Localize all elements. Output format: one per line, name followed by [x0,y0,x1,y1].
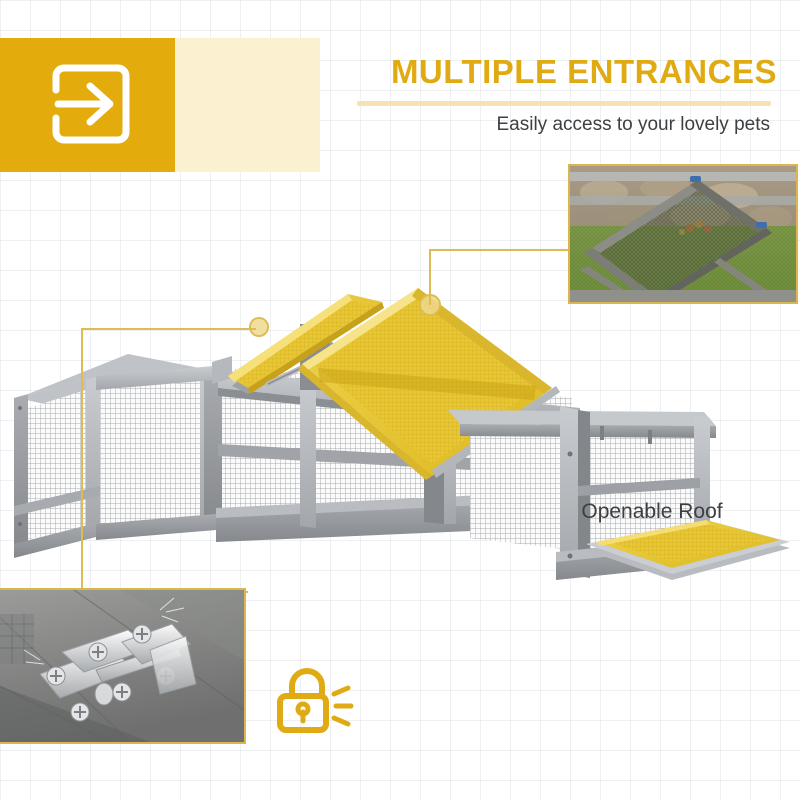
openable-roof-caption: Openable Roof [536,500,768,524]
enter-arrow-icon [44,58,136,150]
page-subtitle: Easily access to your lovely pets [300,114,770,136]
inset-openable-roof: Openable Roof [568,164,800,364]
left-run-box [14,354,222,558]
padlock-icon [268,662,354,740]
lockable-door-photo [0,588,246,744]
infographic-canvas: MULTIPLE ENTRANCES Easily access to your… [0,0,800,800]
page-title: MULTIPLE ENTRANCES [357,54,777,90]
inset-lockable-door: Lockable Door [0,588,248,778]
title-underline [357,101,771,106]
openable-roof-photo [568,164,798,304]
